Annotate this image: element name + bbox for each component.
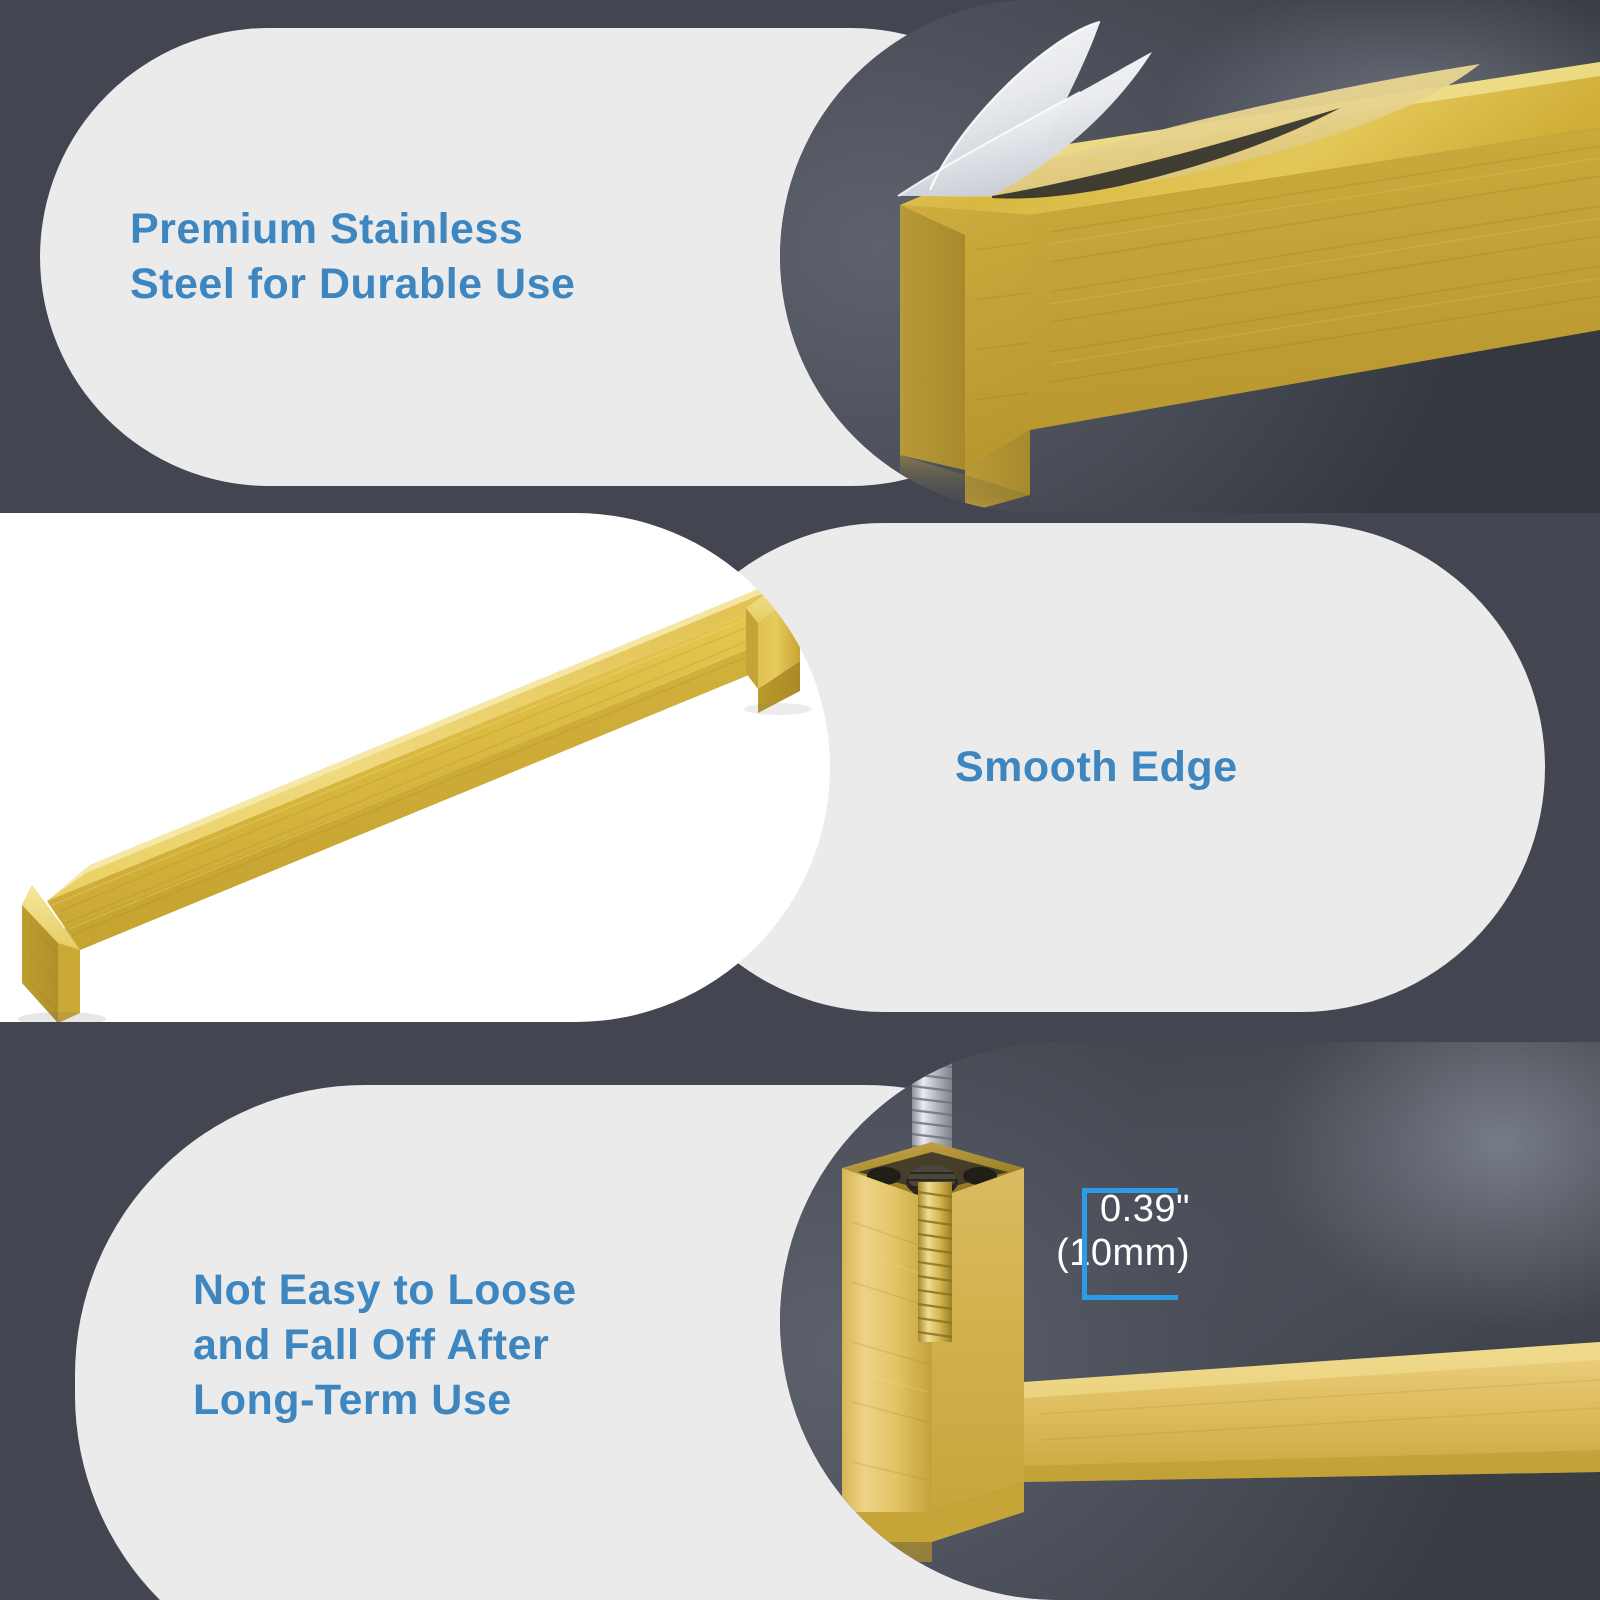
dimension-bracket-icon xyxy=(1082,1188,1178,1300)
feature-title-2: Smooth Edge xyxy=(955,740,1238,795)
product-photo-handle xyxy=(0,513,830,1022)
gold-handle-with-film-icon xyxy=(780,0,1600,513)
feature-row-smooth-edge: Smooth Edge xyxy=(0,513,1600,1022)
handle-leg-with-screw-icon xyxy=(780,1042,1600,1600)
feature-title-3: Not Easy to Loose and Fall Off After Lon… xyxy=(193,1263,577,1428)
feature-photo-panel-2 xyxy=(0,513,830,1022)
feature-photo-panel-3: 0.39" (10mm) xyxy=(780,1042,1600,1600)
feature-row-not-easy-to-loose: Not Easy to Loose and Fall Off After Lon… xyxy=(0,1042,1600,1600)
gold-cabinet-pull-handle-icon xyxy=(0,513,830,1022)
feature-row-premium-stainless-steel: Premium Stainless Steel for Durable Use xyxy=(0,0,1600,513)
feature-title-1: Premium Stainless Steel for Durable Use xyxy=(130,202,575,312)
product-feature-infographic: Premium Stainless Steel for Durable Use xyxy=(0,0,1600,1600)
feature-photo-panel-1 xyxy=(780,0,1600,513)
